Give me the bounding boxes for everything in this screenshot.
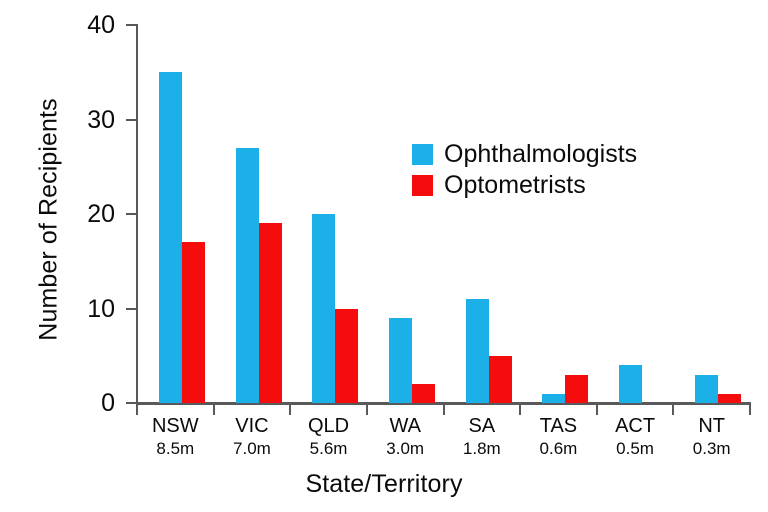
category-name: TAS [520,414,597,438]
x-axis-category-label: SA1.8m [444,414,521,460]
bars-area [137,25,750,403]
x-axis-title: State/Territory [0,470,768,499]
category-name: VIC [214,414,291,438]
category-population: 7.0m [214,438,291,460]
bar-group [466,25,512,403]
legend-label: Optometrists [444,173,586,198]
bar [619,365,642,403]
category-population: 0.5m [597,438,674,460]
bar [718,394,741,403]
x-axis-category-label: TAS0.6m [520,414,597,460]
bar [695,375,718,403]
category-population: 0.6m [520,438,597,460]
y-axis-tick [126,213,137,215]
bar [236,148,259,403]
bar-group [159,25,205,403]
category-name: NSW [137,414,214,438]
category-name: NT [673,414,750,438]
legend-color-swatch [412,144,433,165]
legend-label: Ophthalmologists [444,142,637,167]
category-name: SA [444,414,521,438]
legend-color-swatch [412,175,433,196]
bar [389,318,412,403]
category-population: 3.0m [367,438,444,460]
bar [542,394,565,403]
y-axis-tick-label: 0 [47,388,115,418]
bar-group [236,25,282,403]
bar [335,309,358,404]
bar [182,242,205,403]
y-axis-tick [126,308,137,310]
bar-group [389,25,435,403]
x-axis-category-label: QLD5.6m [290,414,367,460]
category-population: 1.8m [444,438,521,460]
y-axis-tick-label: 10 [47,294,115,324]
y-axis-tick [126,24,137,26]
bar [489,356,512,403]
category-population: 0.3m [673,438,750,460]
category-name: WA [367,414,444,438]
bar [565,375,588,403]
bar-group [312,25,358,403]
y-axis-tick-label: 20 [47,199,115,229]
bar [312,214,335,403]
y-axis-tick [126,402,137,404]
legend-item: Ophthalmologists [412,139,637,170]
legend: OphthalmologistsOptometrists [412,139,637,201]
bar [159,72,182,403]
y-axis-tick [126,119,137,121]
legend-item: Optometrists [412,170,637,201]
bar [259,223,282,403]
bar-chart: Number of Recipients 010203040 NSW8.5mVI… [0,0,768,512]
bar-group [619,25,665,403]
x-axis-category-label: VIC7.0m [214,414,291,460]
category-population: 8.5m [137,438,214,460]
category-name: QLD [290,414,367,438]
x-axis-category-label: WA3.0m [367,414,444,460]
bar-group [695,25,741,403]
category-name: ACT [597,414,674,438]
bar [412,384,435,403]
y-axis-tick-label: 30 [47,105,115,135]
bar [466,299,489,403]
y-axis-tick-label: 40 [47,10,115,40]
x-axis-category-label: NSW8.5m [137,414,214,460]
x-axis-category-label: NT0.3m [673,414,750,460]
bar-group [542,25,588,403]
x-axis-category-label: ACT0.5m [597,414,674,460]
category-population: 5.6m [290,438,367,460]
